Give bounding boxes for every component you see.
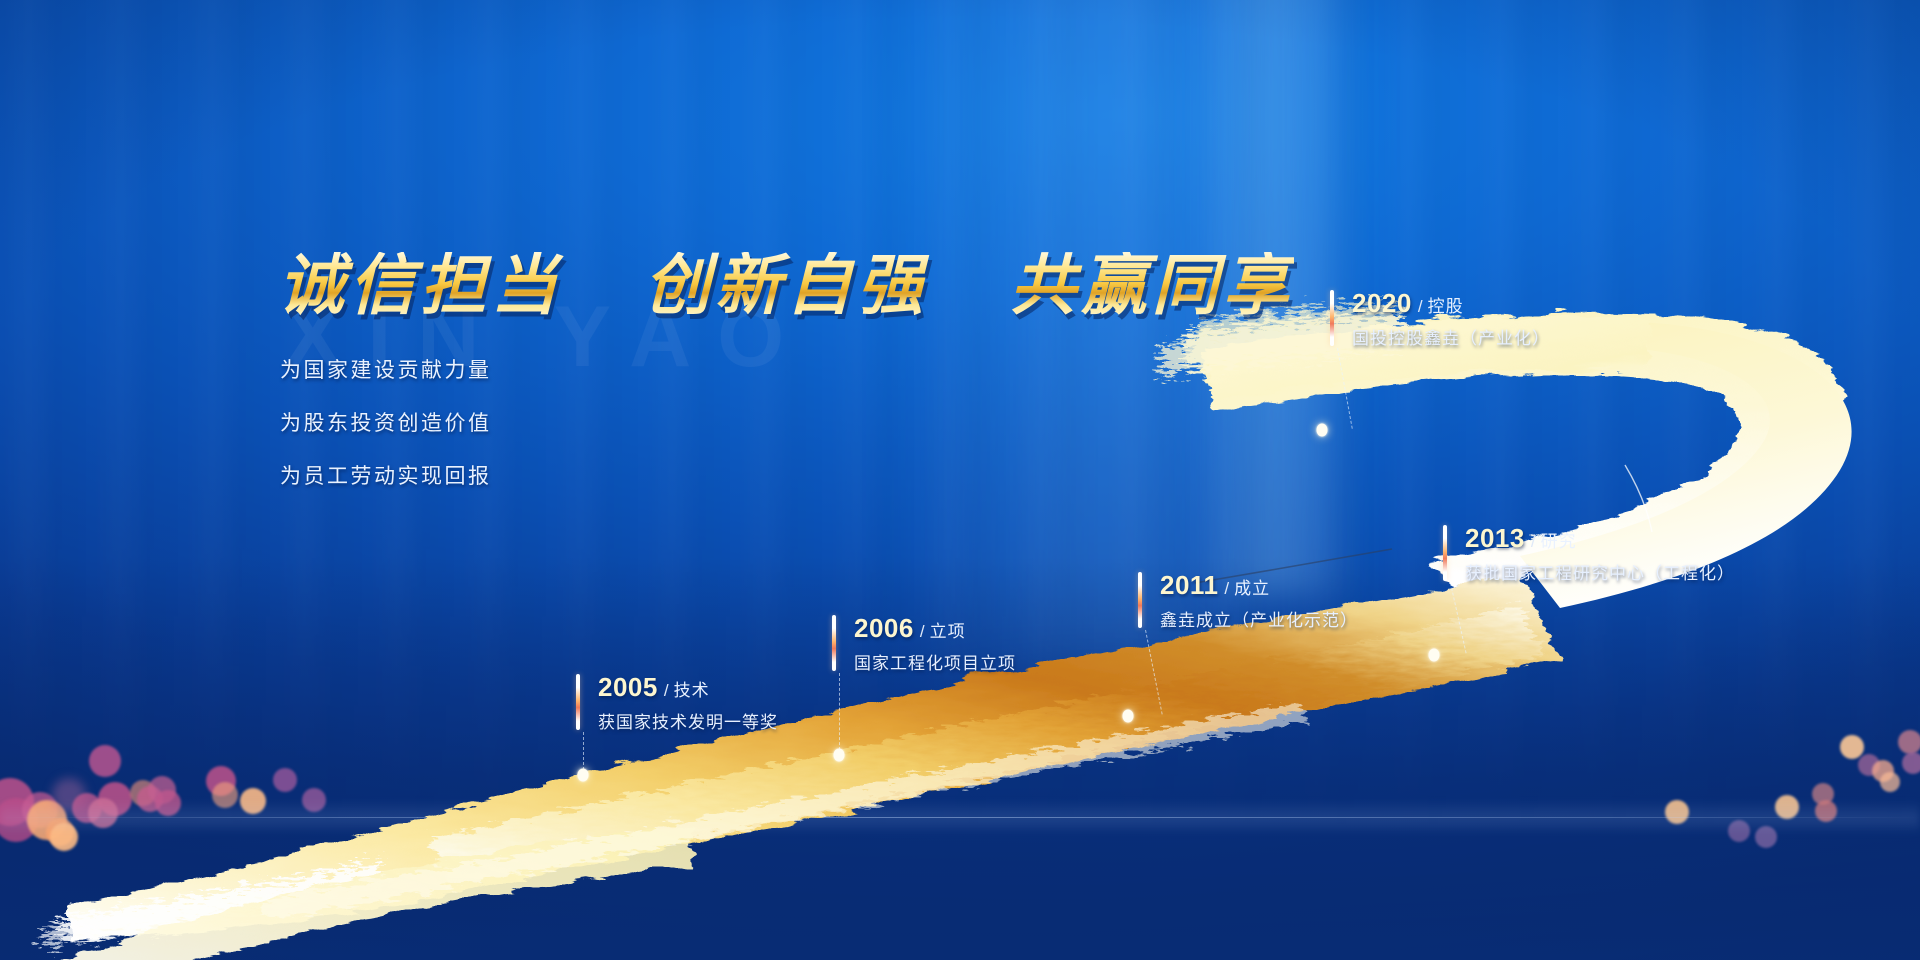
timeline-tag: 技术	[674, 681, 710, 700]
timeline-description: 获批国家工程研究中心（工程化）	[1465, 559, 1735, 584]
timeline-tag: 控股	[1428, 297, 1464, 316]
timeline-accent-bar	[1138, 572, 1142, 628]
timeline-description: 国投控股鑫垚（产业化）	[1352, 324, 1550, 349]
timeline-heading: 2006/立项	[854, 613, 966, 644]
slogan-line: 为股东投资创造价值	[280, 413, 492, 434]
timeline-slash: /	[1224, 579, 1229, 598]
page-title: 诚信担当 创新自强 共赢同享	[278, 252, 1294, 318]
timeline-year: 2011	[1160, 570, 1218, 600]
timeline-marker-dot[interactable]	[1429, 649, 1440, 662]
timeline-heading: 2013/研究	[1465, 523, 1577, 554]
slogan-list: 为国家建设贡献力量为股东投资创造价值为员工劳动实现回报	[280, 360, 492, 519]
timeline-accent-bar	[1330, 290, 1334, 346]
poster-canvas: XIN YAO 诚信担当 创新自强 共赢同享 为国家建设贡献力量为股东投资创造价…	[0, 0, 1920, 960]
timeline-year: 2005	[598, 672, 658, 702]
timeline-accent-bar	[576, 674, 580, 730]
slogan-line: 为员工劳动实现回报	[280, 466, 492, 487]
timeline-tag: 成立	[1234, 579, 1270, 598]
headline-block: XIN YAO 诚信担当 创新自强 共赢同享	[278, 252, 1294, 318]
timeline-heading: 2011/成立	[1160, 570, 1270, 601]
timeline-slash: /	[664, 681, 669, 700]
timeline-year: 2013	[1465, 523, 1525, 553]
headline-part-1: 诚信担当	[278, 246, 562, 324]
timeline-marker-dot[interactable]	[834, 749, 845, 762]
headline-part-2: 创新自强	[644, 246, 928, 324]
timeline-heading: 2005/技术	[598, 672, 710, 703]
timeline-description: 鑫垚成立（产业化示范）	[1160, 606, 1358, 631]
slogan-line: 为国家建设贡献力量	[280, 360, 492, 381]
timeline-tag: 立项	[930, 622, 966, 641]
timeline-heading: 2020/控股	[1352, 288, 1464, 319]
timeline-leader-line	[839, 673, 840, 755]
timeline-tag: 研究	[1541, 532, 1577, 551]
timeline-accent-bar	[1443, 525, 1447, 581]
headline-part-3: 共赢同享	[1010, 246, 1294, 324]
timeline-slash: /	[1418, 297, 1423, 316]
timeline-slash: /	[1531, 532, 1536, 551]
timeline-description: 国家工程化项目立项	[854, 649, 1016, 674]
timeline-marker-dot[interactable]	[578, 769, 589, 782]
timeline-marker-dot[interactable]	[1123, 710, 1134, 723]
timeline-slash: /	[920, 622, 925, 641]
timeline-year: 2020	[1352, 288, 1412, 318]
timeline-year: 2006	[854, 613, 914, 643]
timeline-marker-dot[interactable]	[1317, 424, 1328, 437]
timeline-description: 获国家技术发明一等奖	[598, 708, 778, 733]
timeline-accent-bar	[832, 615, 836, 671]
